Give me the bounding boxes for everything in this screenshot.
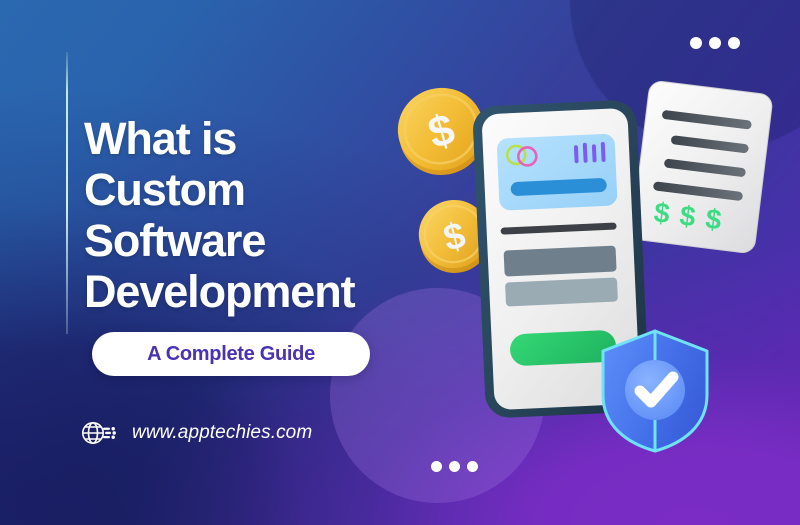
headline-line-4: Development (84, 266, 414, 317)
complete-guide-button[interactable]: A Complete Guide (92, 332, 370, 376)
promo-banner: $ $ $ $ (0, 0, 800, 525)
website-link[interactable]: www.apptechies.com (80, 418, 312, 448)
headline-line-1: What is (84, 113, 414, 164)
page-title: What is Custom Software Development (84, 113, 414, 317)
security-shield-icon (596, 327, 714, 455)
headline-accent-line (66, 52, 68, 334)
globe-network-icon (80, 418, 118, 448)
website-url-text: www.apptechies.com (132, 422, 312, 444)
complete-guide-button-label: A Complete Guide (147, 343, 315, 366)
receipt-document-icon: $ $ $ (628, 78, 775, 256)
headline-line-2: Custom (84, 164, 414, 215)
headline-line-3: Software (84, 215, 414, 266)
